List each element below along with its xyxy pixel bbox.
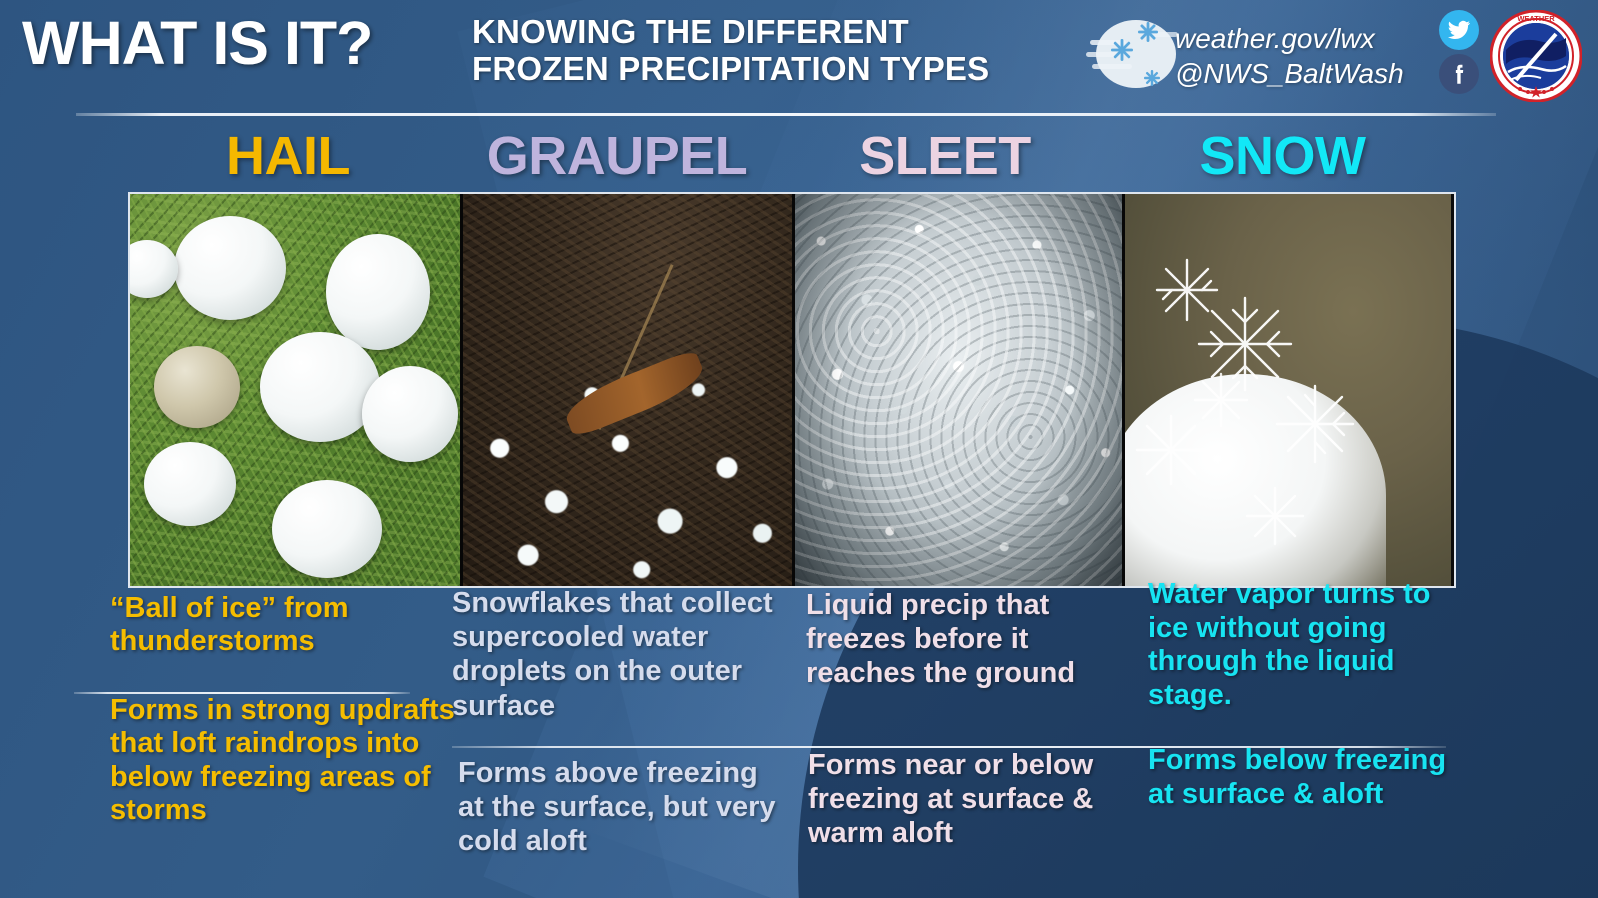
coin-for-scale <box>154 346 240 428</box>
hailstone <box>174 216 286 320</box>
definition-text-graupel: Snowflakes that collect supercooled wate… <box>452 586 782 723</box>
formation-text-sleet: Forms near or below freezing at surface … <box>808 748 1148 851</box>
page-subtitle-line2: FROZEN PRECIPITATION TYPES <box>472 51 989 88</box>
formation-snow: Forms below freezing at surface & aloft <box>1148 744 1458 811</box>
website-url[interactable]: weather.gov/lwx <box>1175 21 1404 56</box>
definition-text-hail: “Ball of ice” from thunderstorms <box>110 592 460 659</box>
svg-text:WEATHER: WEATHER <box>1517 14 1555 23</box>
page-subtitle-line1: KNOWING THE DIFFERENT <box>472 14 989 51</box>
social-links <box>1437 8 1481 104</box>
photo-sleet <box>792 194 1122 586</box>
page-title: WHAT IS IT? <box>22 8 372 78</box>
sleet-photo-vignette <box>795 194 1122 586</box>
category-title-hail: HAIL <box>128 124 448 188</box>
definition-snow: Water vapor turns to ice without going t… <box>1148 578 1468 713</box>
formation-sleet: Forms near or below freezing at surface … <box>808 748 1148 851</box>
definition-graupel: Snowflakes that collect supercooled wate… <box>452 586 782 723</box>
twitter-handle[interactable]: @NWS_BaltWash <box>1175 56 1404 91</box>
snow-cloud-icon <box>1086 12 1182 96</box>
category-title-snow: SNOW <box>1110 124 1455 188</box>
facebook-icon[interactable] <box>1439 54 1479 94</box>
header-divider <box>76 113 1496 116</box>
formation-text-hail: Forms in strong updrafts that loft raind… <box>110 694 455 827</box>
definition-text-snow: Water vapor turns to ice without going t… <box>1148 578 1468 713</box>
header: WHAT IS IT? KNOWING THE DIFFERENT FROZEN… <box>0 0 1598 120</box>
photo-graupel <box>460 194 792 586</box>
category-titles: HAIL GRAUPEL SLEET SNOW <box>0 124 1598 190</box>
category-title-graupel: GRAUPEL <box>452 124 782 188</box>
category-title-sleet: SLEET <box>790 124 1100 188</box>
infographic-canvas: WHAT IS IT? KNOWING THE DIFFERENT FROZEN… <box>0 0 1598 898</box>
formation-hail: Forms in strong updrafts that loft raind… <box>110 694 455 827</box>
hailstone <box>362 366 458 462</box>
photo-snow <box>1122 194 1451 586</box>
page-subtitle: KNOWING THE DIFFERENT FROZEN PRECIPITATI… <box>472 14 989 88</box>
hailstone <box>272 480 382 578</box>
photo-hail <box>130 194 460 586</box>
snow-crystals <box>1125 194 1451 586</box>
formation-text-snow: Forms below freezing at surface & aloft <box>1148 744 1458 811</box>
definition-hail: “Ball of ice” from thunderstorms <box>110 592 460 659</box>
twitter-icon[interactable] <box>1439 10 1479 50</box>
hailstone <box>144 442 236 526</box>
hailstone <box>326 234 430 350</box>
contact-info: weather.gov/lwx @NWS_BaltWash <box>1175 21 1404 92</box>
photo-strip <box>128 192 1456 588</box>
formation-text-graupel: Forms above freezing at the surface, but… <box>458 756 778 859</box>
hailstone <box>260 332 380 442</box>
definition-sleet: Liquid precip that freezes before it rea… <box>806 588 1136 691</box>
definition-text-sleet: Liquid precip that freezes before it rea… <box>806 588 1136 691</box>
national-weather-service-logo: WEATHER <box>1490 10 1582 102</box>
formation-graupel: Forms above freezing at the surface, but… <box>458 756 778 859</box>
